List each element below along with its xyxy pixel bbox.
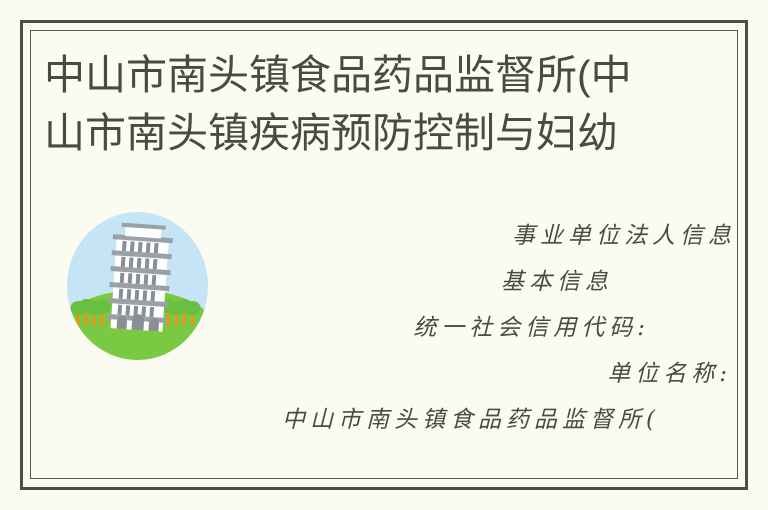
section-heading: 事业单位法人信息 <box>40 213 738 259</box>
page-title-line-1: 中山市南头镇食品药品监督所(中 <box>44 46 724 104</box>
page-title: 中山市南头镇食品药品监督所(中 山市南头镇疾病预防控制与妇幼 <box>44 46 724 162</box>
unit-name-label: 单位名称: <box>40 351 738 397</box>
credit-code-label: 统一社会信用代码: <box>40 305 738 351</box>
page-root: 中山市南头镇食品药品监督所(中 山市南头镇疾病预防控制与妇幼 <box>0 0 768 510</box>
unit-name-value: 中山市南头镇食品药品监督所( <box>40 397 738 443</box>
detail-text-block: 事业单位法人信息 基本信息 统一社会信用代码: 单位名称: 中山市南头镇食品药品… <box>40 213 738 443</box>
page-title-line-2: 山市南头镇疾病预防控制与妇幼 <box>44 104 724 162</box>
section-subheading: 基本信息 <box>40 259 738 305</box>
